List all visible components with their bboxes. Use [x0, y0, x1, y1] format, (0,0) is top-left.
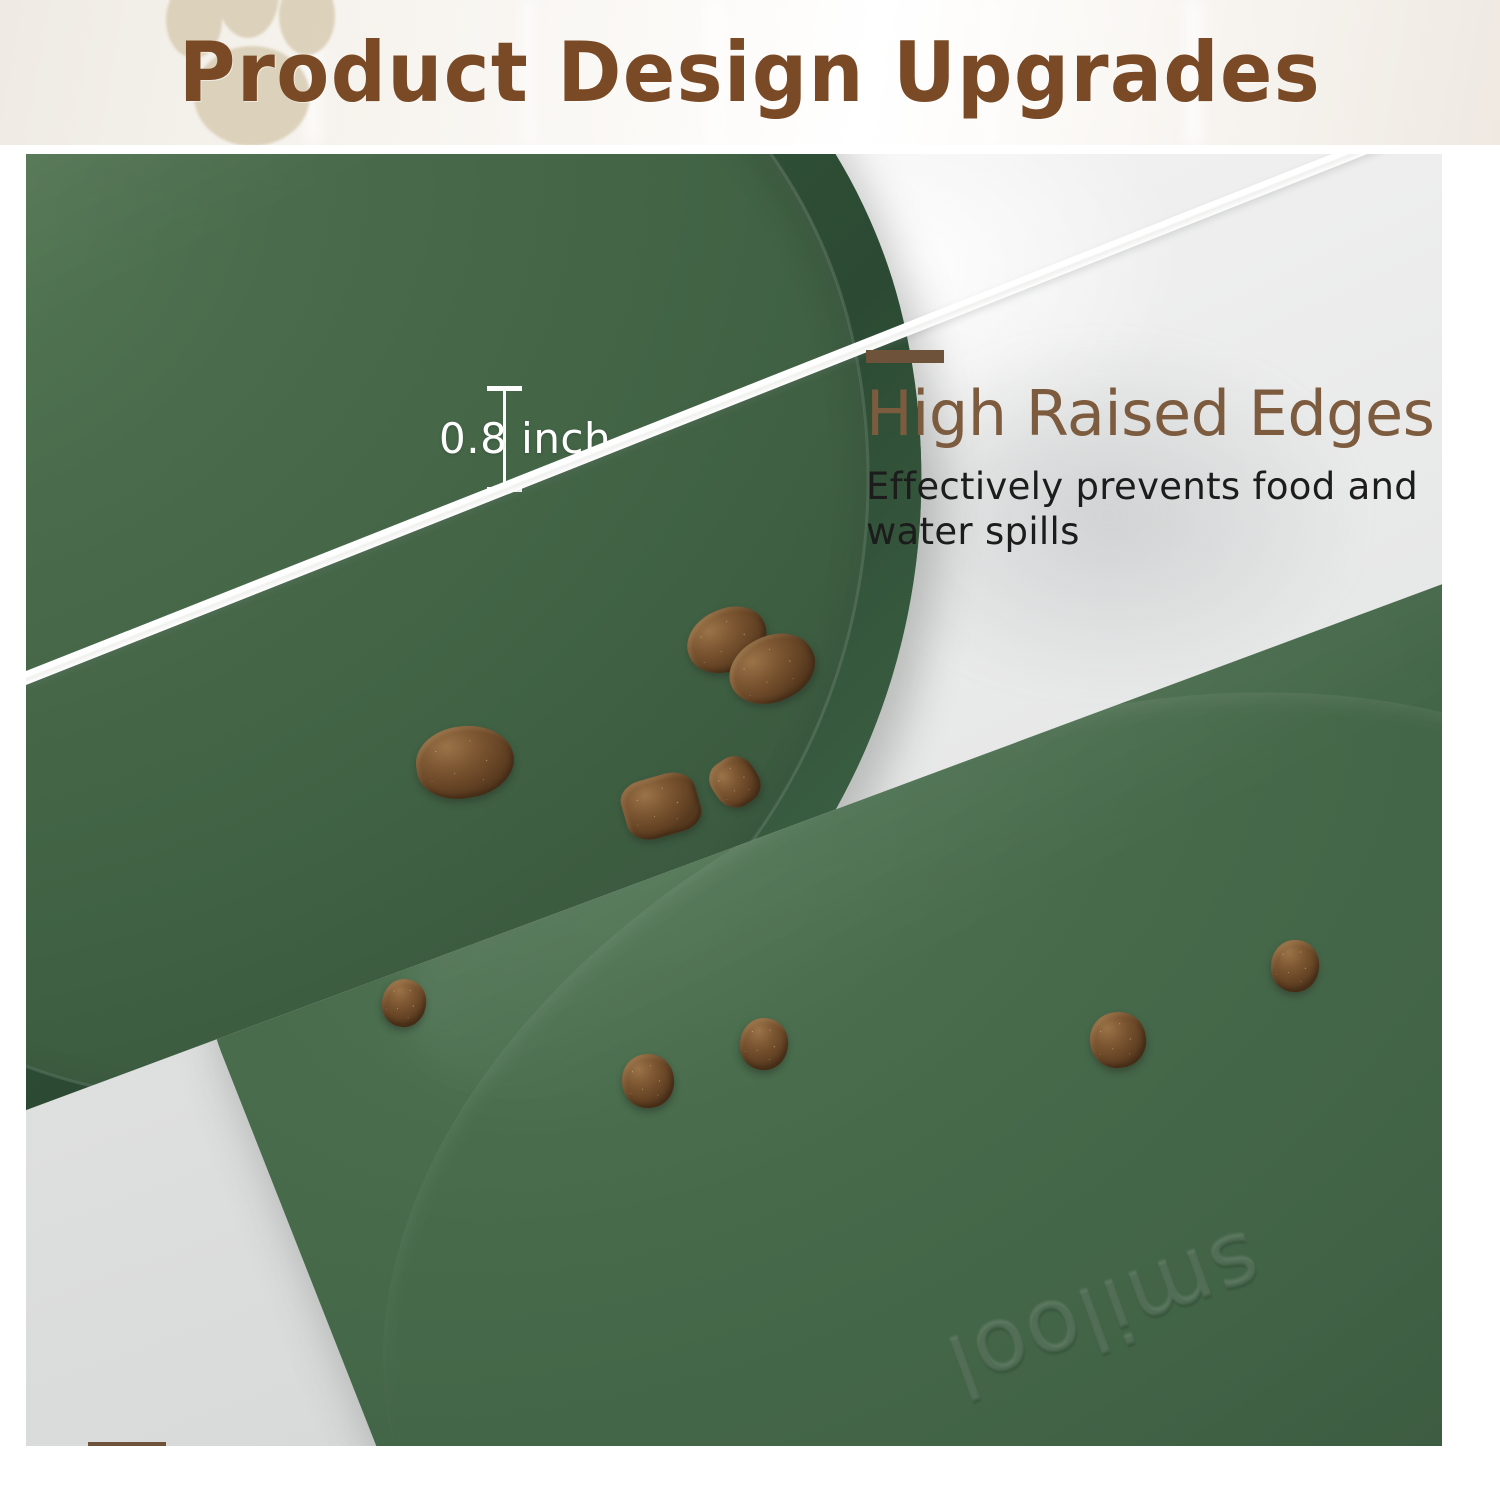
product-photo: 0.8 inch smilool	[26, 154, 1442, 1446]
accent-dash-icon	[866, 350, 944, 363]
callout-high-raised-edges: High Raised Edges Effectively prevents f…	[866, 350, 1442, 554]
header-band: Product Design Upgrades	[0, 0, 1500, 145]
callout-title: High Raised Edges	[866, 381, 1442, 446]
product-photo-frame: 0.8 inch smilool	[22, 150, 1446, 1450]
callout-keeping-floor-clean: Keeping the floor clean Minimizes time s…	[88, 1442, 1288, 1446]
page-title: Product Design Upgrades	[53, 0, 1448, 145]
callout-body: Effectively prevents food and water spil…	[866, 464, 1442, 554]
product-infographic: Product Design Upgrades	[0, 0, 1500, 1500]
accent-dash-icon	[88, 1442, 166, 1446]
